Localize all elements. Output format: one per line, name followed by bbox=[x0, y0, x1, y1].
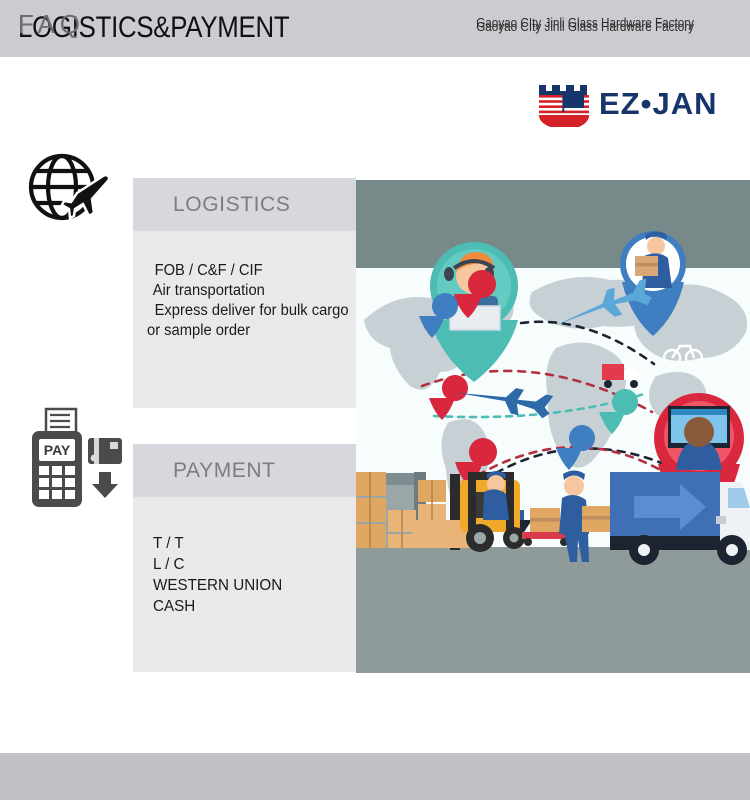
logo-text-right: JAN bbox=[652, 86, 717, 121]
panel-payment-header: PAYMENT bbox=[133, 444, 356, 497]
pos-terminal-card-icon: PAY bbox=[24, 400, 128, 510]
logistics-line: Air transportation bbox=[147, 281, 340, 301]
logo-wordmark: EZ•JAN bbox=[599, 84, 718, 124]
shield-flag-emblem-icon bbox=[537, 83, 591, 127]
globe-airplane-icon bbox=[22, 145, 114, 233]
logo-text-left: EZ bbox=[599, 86, 641, 121]
panel-logistics-body: FOB / C&F / CIF Air transportation Expre… bbox=[133, 231, 356, 408]
illustration-artwork bbox=[356, 180, 750, 673]
panel-payment-body: T / T L / C WESTERN UNION CASH bbox=[133, 497, 356, 672]
logistics-line: or sample order bbox=[147, 321, 340, 341]
panel-logistics-heading: LOGISTICS bbox=[173, 193, 290, 217]
logistics-line: Express deliver for bulk cargo bbox=[147, 301, 340, 321]
logistics-line: FOB / C&F / CIF bbox=[147, 261, 340, 281]
payment-line: WESTERN UNION bbox=[153, 575, 340, 596]
footer-title: FAQ bbox=[18, 8, 85, 40]
footer-bar bbox=[0, 753, 750, 800]
payment-line: CASH bbox=[153, 596, 340, 617]
payment-line: T / T bbox=[153, 533, 340, 554]
panel-payment: PAYMENT T / T L / C WESTERN UNION CASH bbox=[133, 444, 356, 672]
payment-line: L / C bbox=[153, 554, 340, 575]
global-logistics-illustration bbox=[356, 180, 750, 673]
footer-company-name: Gaoyao CIty Jinli Glass Hardware Factory bbox=[476, 15, 694, 30]
panel-logistics: LOGISTICS FOB / C&F / CIF Air transporta… bbox=[133, 178, 356, 408]
pos-screen-label: PAY bbox=[44, 442, 71, 458]
panel-logistics-header: LOGISTICS bbox=[133, 178, 356, 231]
brand-logo[interactable]: EZ•JAN bbox=[537, 83, 737, 127]
logo-separator: • bbox=[641, 86, 653, 121]
product-detail-page: LOGISTICS&PAYMENT Gaoyao CIty Jinli Glas… bbox=[0, 0, 750, 800]
panel-payment-heading: PAYMENT bbox=[173, 459, 276, 483]
